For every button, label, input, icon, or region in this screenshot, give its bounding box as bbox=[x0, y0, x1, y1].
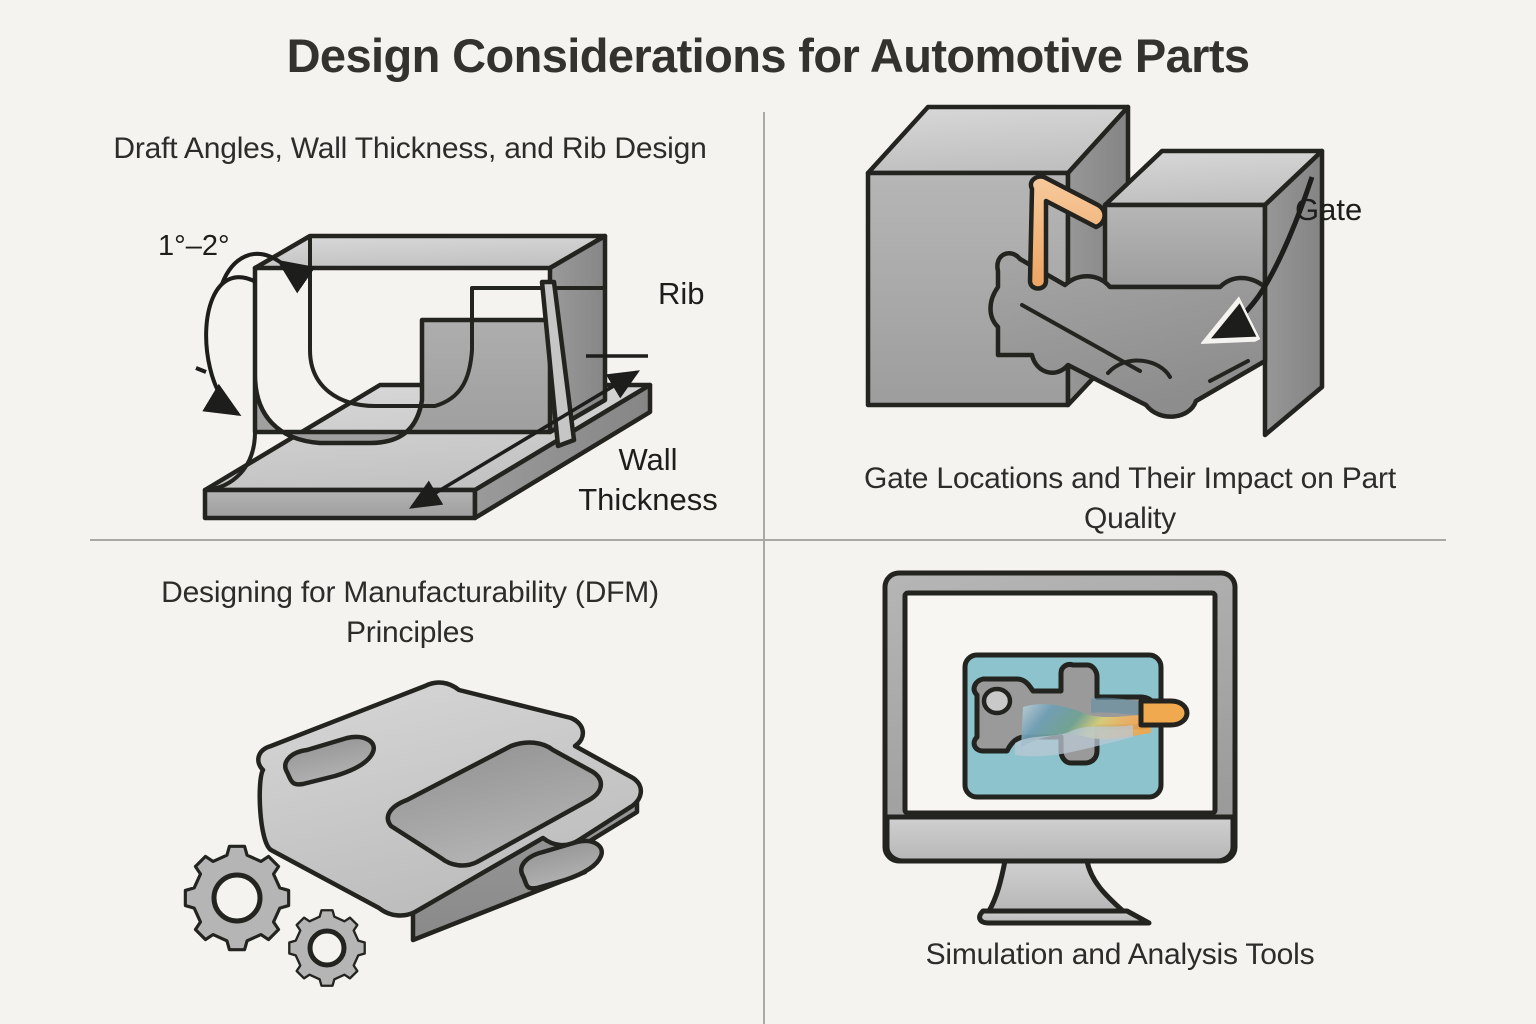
q2-illustration bbox=[860, 105, 1420, 445]
gate-label: Gate bbox=[1295, 192, 1362, 228]
q3-illustration bbox=[175, 650, 735, 980]
page-title: Design Considerations for Automotive Par… bbox=[0, 30, 1536, 82]
caption-dfm-principles: Designing for Manufacturability (DFM) Pr… bbox=[100, 573, 720, 652]
rib-label: Rib bbox=[658, 276, 705, 312]
gear-small-icon bbox=[289, 910, 364, 985]
q4-illustration bbox=[865, 555, 1265, 925]
draft-angle-label: 1°–2° bbox=[158, 230, 230, 263]
illustration-canvas: Design Considerations for Automotive Par… bbox=[0, 0, 1536, 1024]
caption-draft-angles: Draft Angles, Wall Thickness, and Rib De… bbox=[110, 129, 710, 169]
caption-gate-locations: Gate Locations and Their Impact on Part … bbox=[820, 459, 1440, 538]
divider-horizontal bbox=[90, 539, 1446, 541]
draft-angle-tick bbox=[196, 368, 206, 372]
wall-thickness-label: Wall Thickness bbox=[548, 440, 748, 521]
draft-angle-arrow bbox=[206, 254, 280, 414]
caption-simulation-tools: Simulation and Analysis Tools bbox=[820, 935, 1420, 975]
gear-large-icon bbox=[185, 846, 288, 949]
